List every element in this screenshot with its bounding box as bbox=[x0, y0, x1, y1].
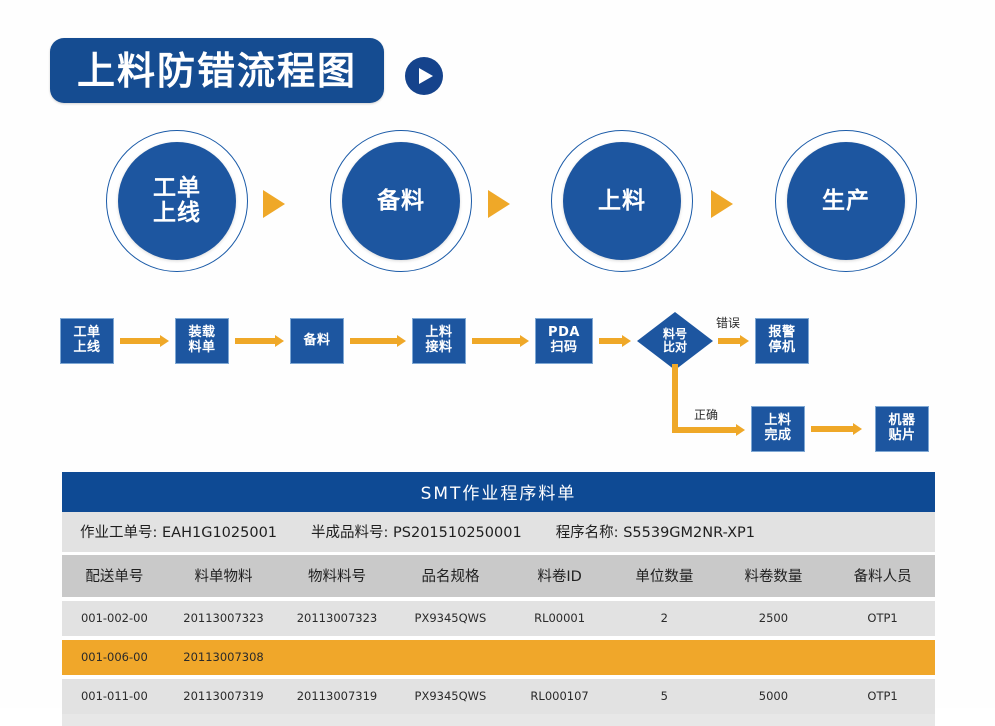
column-header-delivery-no[interactable]: 配送单号 bbox=[62, 555, 167, 599]
flow-arrowhead-5 bbox=[622, 335, 631, 347]
cell-material-no: 20113007319 bbox=[280, 677, 393, 714]
cell-spec: PX9345QWS bbox=[394, 677, 507, 714]
flow-arrowhead-error bbox=[740, 335, 749, 347]
flow-edge-label-correct: 正确 bbox=[694, 406, 718, 423]
cell-delivery-no: 001-002-00 bbox=[62, 599, 167, 638]
cell-operator: OTP1 bbox=[830, 677, 935, 714]
column-header-reel-qty[interactable]: 料卷数量 bbox=[717, 555, 830, 599]
flow-connector-correct-horizontal bbox=[672, 427, 736, 433]
stage-arrow-icon-2 bbox=[488, 190, 510, 218]
cell-material-no bbox=[280, 638, 393, 677]
stage-circles: 工单 上线 备料 上料 生产 bbox=[0, 130, 995, 280]
column-header-reel-id[interactable]: 料卷ID bbox=[507, 555, 612, 599]
column-header-unit-qty[interactable]: 单位数量 bbox=[612, 555, 717, 599]
flow-connector-2 bbox=[235, 338, 275, 344]
table-info-row: 作业工单号: EAH1G1025001 半成品料号: PS20151025000… bbox=[62, 512, 935, 555]
flow-connector-1 bbox=[120, 338, 160, 344]
column-header-material-no[interactable]: 物料料号 bbox=[280, 555, 393, 599]
column-header-spec[interactable]: 品名规格 bbox=[394, 555, 507, 599]
flow-arrowhead-correct bbox=[736, 424, 745, 436]
flow-connector-error bbox=[718, 338, 740, 344]
info-work-order: 作业工单号: EAH1G1025001 bbox=[80, 521, 277, 542]
play-triangle-icon bbox=[419, 68, 433, 84]
cell-bom-material: 20113007323 bbox=[167, 599, 280, 638]
page-title-banner: 上料防错流程图 bbox=[50, 38, 384, 103]
stage-arrow-icon-3 bbox=[711, 190, 733, 218]
flow-connector-6 bbox=[811, 426, 853, 432]
stage-circle-label: 上料 bbox=[598, 189, 646, 214]
cell-operator: OTP1 bbox=[830, 599, 935, 638]
flow-arrowhead-4 bbox=[520, 335, 529, 347]
stage-circle-feed[interactable]: 上料 bbox=[551, 130, 693, 272]
info-semi-product-key: 半成品料号: bbox=[311, 525, 388, 541]
cell-reel-qty: 5000 bbox=[717, 677, 830, 714]
info-program-name-value: S5539GM2NR-XP1 bbox=[623, 525, 755, 541]
info-program-name: 程序名称: S5539GM2NR-XP1 bbox=[556, 521, 755, 542]
cell-material-no: 20113007323 bbox=[280, 599, 393, 638]
stage-arrow-icon-1 bbox=[263, 190, 285, 218]
table-row-highlighted[interactable]: 001-006-00 20113007308 bbox=[62, 638, 935, 677]
material-grid: 配送单号 料单物料 物料料号 品名规格 料卷ID 单位数量 料卷数量 备料人员 … bbox=[62, 555, 935, 714]
poster-canvas: 上料防错流程图 工单 上线 备料 上料 生产 bbox=[0, 0, 995, 708]
smt-material-list-table: SMT作业程序料单 作业工单号: EAH1G1025001 半成品料号: PS2… bbox=[62, 472, 935, 726]
flow-node-compare-decision[interactable]: 料号 比对 bbox=[637, 312, 713, 370]
flow-edge-label-error: 错误 bbox=[716, 314, 740, 331]
play-icon[interactable] bbox=[405, 57, 443, 95]
stage-circle-label: 工单 上线 bbox=[153, 176, 201, 226]
flow-node-pda-scan[interactable]: PDA 扫码 bbox=[535, 318, 593, 364]
flow-node-alarm-stop[interactable]: 报警 停机 bbox=[755, 318, 809, 364]
flow-connector-3 bbox=[350, 338, 397, 344]
flow-node-machine-mount[interactable]: 机器 贴片 bbox=[875, 406, 929, 452]
flow-arrowhead-3 bbox=[397, 335, 406, 347]
table-row[interactable]: 001-011-00 20113007319 20113007319 PX934… bbox=[62, 677, 935, 714]
stage-circle-inner: 工单 上线 bbox=[118, 142, 236, 260]
flow-node-work-order[interactable]: 工单 上线 bbox=[60, 318, 114, 364]
process-flowchart: 工单 上线 装载 料单 备料 上料 接料 PDA 扫码 料号 比对 报警 停机 … bbox=[0, 298, 995, 468]
stage-circle-inner: 生产 bbox=[787, 142, 905, 260]
cell-unit-qty bbox=[612, 638, 717, 677]
cell-spec: PX9345QWS bbox=[394, 599, 507, 638]
cell-spec bbox=[394, 638, 507, 677]
flow-connector-correct-vertical bbox=[672, 364, 678, 433]
table-title: SMT作业程序料单 bbox=[62, 472, 935, 512]
cell-delivery-no: 001-006-00 bbox=[62, 638, 167, 677]
info-semi-product-value: PS201510250001 bbox=[393, 525, 522, 541]
flow-arrowhead-6 bbox=[853, 423, 862, 435]
flow-node-feed[interactable]: 上料 接料 bbox=[412, 318, 466, 364]
flow-node-load-bom[interactable]: 装载 料单 bbox=[175, 318, 229, 364]
stage-circle-inner: 上料 bbox=[563, 142, 681, 260]
info-work-order-key: 作业工单号: bbox=[80, 525, 157, 541]
cell-reel-qty: 2500 bbox=[717, 599, 830, 638]
table-row[interactable]: 001-002-00 20113007323 20113007323 PX934… bbox=[62, 599, 935, 638]
stage-circle-inner: 备料 bbox=[342, 142, 460, 260]
flow-connector-4 bbox=[472, 338, 520, 344]
column-header-bom-material[interactable]: 料单物料 bbox=[167, 555, 280, 599]
flow-connector-5 bbox=[599, 338, 622, 344]
cell-operator bbox=[830, 638, 935, 677]
flow-arrowhead-2 bbox=[275, 335, 284, 347]
info-semi-product: 半成品料号: PS201510250001 bbox=[311, 521, 522, 542]
stage-circle-production[interactable]: 生产 bbox=[775, 130, 917, 272]
cell-delivery-no: 001-011-00 bbox=[62, 677, 167, 714]
stage-circle-label: 备料 bbox=[377, 189, 425, 214]
flow-node-compare-label: 料号 比对 bbox=[637, 312, 713, 370]
cell-reel-id: RL00001 bbox=[507, 599, 612, 638]
cell-reel-id: RL000107 bbox=[507, 677, 612, 714]
cell-bom-material: 20113007308 bbox=[167, 638, 280, 677]
stage-circle-prepare[interactable]: 备料 bbox=[330, 130, 472, 272]
flow-arrowhead-1 bbox=[160, 335, 169, 347]
stage-circle-work-order[interactable]: 工单 上线 bbox=[106, 130, 248, 272]
table-footer-spacer bbox=[62, 714, 935, 726]
cell-reel-qty bbox=[717, 638, 830, 677]
flow-node-prepare[interactable]: 备料 bbox=[290, 318, 344, 364]
cell-reel-id bbox=[507, 638, 612, 677]
table-header-row: 配送单号 料单物料 物料料号 品名规格 料卷ID 单位数量 料卷数量 备料人员 bbox=[62, 555, 935, 599]
page-title: 上料防错流程图 bbox=[77, 52, 357, 90]
cell-unit-qty: 5 bbox=[612, 677, 717, 714]
info-program-name-key: 程序名称: bbox=[556, 525, 619, 541]
cell-unit-qty: 2 bbox=[612, 599, 717, 638]
cell-bom-material: 20113007319 bbox=[167, 677, 280, 714]
info-work-order-value: EAH1G1025001 bbox=[162, 525, 277, 541]
column-header-operator[interactable]: 备料人员 bbox=[830, 555, 935, 599]
stage-circle-label: 生产 bbox=[822, 189, 870, 214]
flow-node-feed-done[interactable]: 上料 完成 bbox=[751, 406, 805, 452]
